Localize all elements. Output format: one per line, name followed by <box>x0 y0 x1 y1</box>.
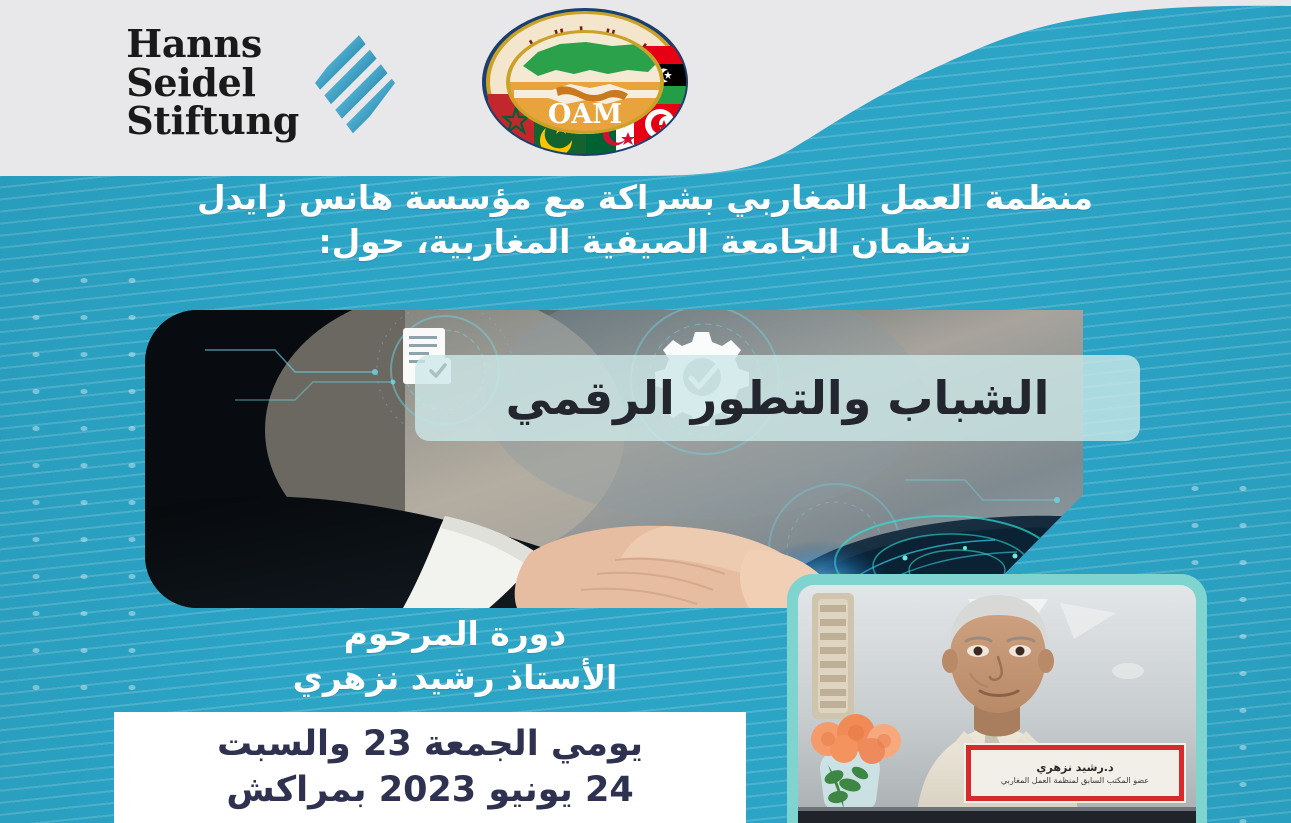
intro-headline: منظمة العمل المغاربي بشراكة مع مؤسسة هان… <box>95 176 1195 263</box>
oam-acronym: OAM <box>548 99 622 130</box>
dedication-text: دورة المرحوم الأستاذ رشيد نزهري <box>150 612 760 700</box>
nameplate-name: د.رشيد نزهري <box>1036 761 1113 774</box>
nameplate-role: عضو المكتب السابق لمنظمة العمل المغاربي <box>1001 776 1149 785</box>
intro-line-1: منظمة العمل المغاربي بشراكة مع مؤسسة هان… <box>95 176 1195 220</box>
oam-logo: منظمة العمل المغاربي OAM <box>478 4 693 160</box>
date-line-1: يومي الجمعة 23 والسبت <box>217 722 643 768</box>
portrait-photo: د.رشيد نزهري عضو المكتب السابق لمنظمة ال… <box>798 585 1196 823</box>
hss-line-3: Stiftung <box>126 102 299 141</box>
poster-root: Hanns Seidel Stiftung <box>0 0 1291 823</box>
date-line-2: 24 يونيو 2023 بمراكش <box>226 768 633 814</box>
hanns-seidel-stiftung-logo: Hanns Seidel Stiftung <box>92 18 397 148</box>
hss-line-1: Hanns <box>126 25 299 64</box>
date-location-box: يومي الجمعة 23 والسبت 24 يونيو 2023 بمرا… <box>114 712 746 823</box>
hss-line-2: Seidel <box>126 64 299 103</box>
dedication-line-2: الأستاذ رشيد نزهري <box>150 656 760 700</box>
poster-title: الشباب والتطور الرقمي <box>415 355 1140 441</box>
nameplate: د.رشيد نزهري عضو المكتب السابق لمنظمة ال… <box>966 745 1184 801</box>
hss-wordmark: Hanns Seidel Stiftung <box>126 25 299 141</box>
hss-diamond-icon <box>313 28 397 138</box>
intro-line-2: تنظمان الجامعة الصيفية المغاربية، حول: <box>95 220 1195 264</box>
dot-grid-left <box>12 262 137 722</box>
portrait-card: د.رشيد نزهري عضو المكتب السابق لمنظمة ال… <box>787 574 1207 823</box>
dedication-line-1: دورة المرحوم <box>150 612 760 656</box>
